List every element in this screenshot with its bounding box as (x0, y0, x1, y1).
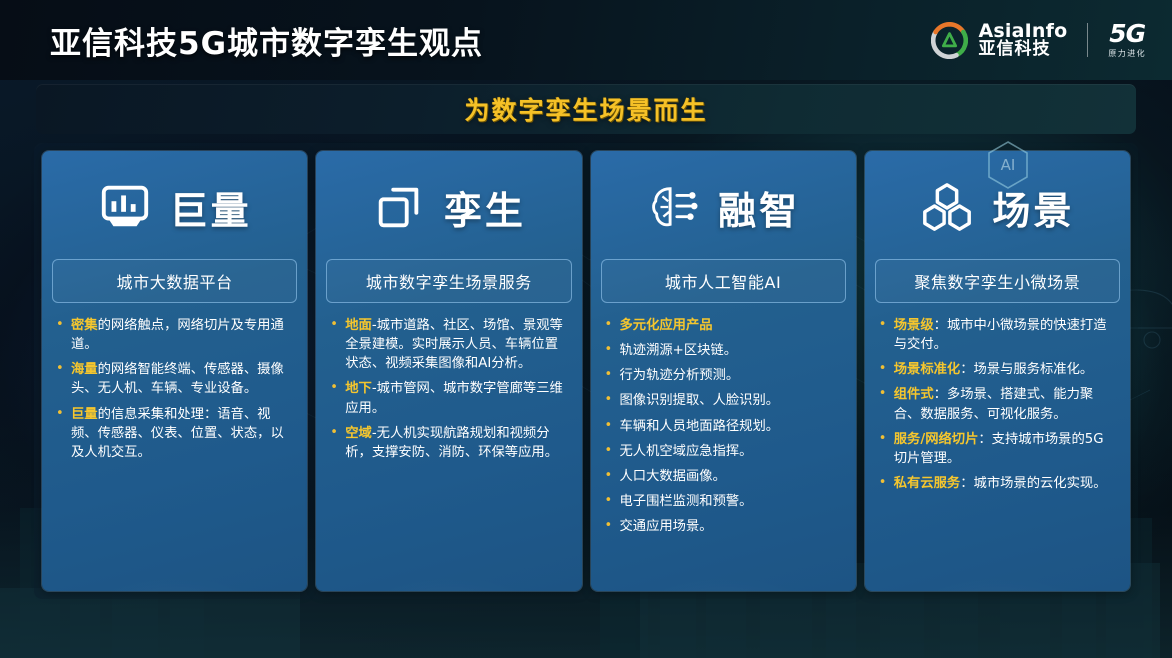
card-bullet-list: •多元化应用产品•轨迹溯源+区块链。•行为轨迹分析预测。•图像识别提取、人脸识别… (601, 316, 846, 581)
bullet-keyword: 巨量 (71, 407, 98, 422)
bullet-dot-icon: • (879, 316, 888, 354)
bullet-dot-icon: • (879, 385, 888, 423)
card-subtitle: 聚焦数字孪生小微场景 (914, 273, 1080, 292)
bullet-keyword: 空域 (345, 426, 372, 441)
bullet-dot-icon: • (56, 360, 65, 398)
brain-circuit-ai-icon (646, 180, 700, 234)
bullet-dot-icon: • (605, 341, 614, 360)
bar-chart-database-icon (98, 180, 152, 234)
fiveg-sublabel: 原力进化 (1108, 48, 1146, 59)
bullet-keyword: 地下 (345, 381, 372, 396)
ai-hexagon-badge-icon: AI (986, 140, 1030, 190)
page-title: 亚信科技5G城市数字孪生观点 (50, 18, 483, 63)
bullet-keyword: 密集 (71, 318, 98, 333)
card-subtitle-box: 城市大数据平台 (52, 259, 297, 303)
card-changjing[interactable]: 场景 聚焦数字孪生小微场景 •场景级：城市中小微场景的快速打造与交付。•场景标准… (865, 151, 1130, 591)
card-bullet-list: •地面-城市道路、社区、场馆、景观等全景建模。实时展示人员、车辆位置状态、视频采… (326, 316, 571, 581)
brand-name-cn: 亚信科技 (979, 41, 1068, 58)
bullet-item: •人口大数据画像。 (605, 467, 840, 486)
logo-divider (1087, 23, 1088, 57)
bullet-dot-icon: • (879, 360, 888, 379)
bullet-item: •私有云服务：城市场景的云化实现。 (879, 474, 1114, 493)
bullet-dot-icon: • (605, 442, 614, 461)
card-title: 巨量 (170, 180, 252, 235)
card-subtitle: 城市人工智能AI (665, 273, 781, 292)
card-juliang[interactable]: 巨量 城市大数据平台 •密集的网络触点，网络切片及专用通道。•海量的网络智能终端… (42, 151, 307, 591)
bullet-item: •无人机空域应急指挥。 (605, 442, 840, 461)
bullet-keyword: 场景级 (894, 318, 934, 333)
bullet-text: 地下-城市管网、城市数字管廊等三维应用。 (345, 379, 565, 417)
bullet-text: 海量的网络智能终端、传感器、摄像头、无人机、车辆、专业设备。 (71, 360, 291, 398)
bullet-text: 组件式：多场景、搭建式、能力聚合、数据服务、可视化服务。 (894, 385, 1114, 423)
brand-logo-text: AsiaInfo 亚信科技 (979, 22, 1068, 59)
slide-header: 亚信科技5G城市数字孪生观点 AsiaInfo 亚信科技 5G 原力进化 (0, 0, 1172, 80)
section-banner-text: 为数字孪生场景而生 (464, 91, 707, 127)
bullet-text: 场景级：城市中小微场景的快速打造与交付。 (894, 316, 1114, 354)
bullet-text: 图像识别提取、人脸识别。 (620, 391, 780, 410)
brand-logo: AsiaInfo 亚信科技 5G 原力进化 (931, 21, 1146, 59)
bullet-text: 地面-城市道路、社区、场馆、景观等全景建模。实时展示人员、车辆位置状态、视频采集… (345, 316, 565, 373)
bullet-dot-icon: • (56, 405, 65, 462)
card-subtitle-box: 聚焦数字孪生小微场景 (875, 259, 1120, 303)
bullet-dot-icon: • (605, 366, 614, 385)
bullet-item: •巨量的信息采集和处理：语音、视频、传感器、仪表、位置、状态，以及人机交互。 (56, 405, 291, 462)
bullet-dot-icon: • (605, 467, 614, 486)
bullet-dot-icon: • (605, 316, 614, 335)
cards-panel: 巨量 城市大数据平台 •密集的网络触点，网络切片及专用通道。•海量的网络智能终端… (34, 143, 1138, 599)
bullet-keyword: 多元化应用产品 (620, 318, 713, 333)
bullet-dot-icon: • (605, 492, 614, 511)
card-bullet-list: •密集的网络触点，网络切片及专用通道。•海量的网络智能终端、传感器、摄像头、无人… (52, 316, 297, 581)
bullet-item: •场景级：城市中小微场景的快速打造与交付。 (879, 316, 1114, 354)
bullet-text: 服务/网络切片：支持城市场景的5G切片管理。 (894, 430, 1114, 468)
bullet-keyword: 私有云服务 (894, 476, 960, 491)
card-luansheng[interactable]: 孪生 城市数字孪生场景服务 •地面-城市道路、社区、场馆、景观等全景建模。实时展… (316, 151, 581, 591)
bullet-dot-icon: • (330, 424, 339, 462)
bullet-dot-icon: • (330, 316, 339, 373)
bullet-text: 空域-无人机实现航路规划和视频分析，支撑安防、消防、环保等应用。 (345, 424, 565, 462)
bullet-text: 密集的网络触点，网络切片及专用通道。 (71, 316, 291, 354)
twin-squares-icon (372, 180, 426, 234)
card-header: 融智 (646, 169, 800, 245)
card-header: 巨量 (98, 169, 252, 245)
bullet-item: •行为轨迹分析预测。 (605, 366, 840, 385)
bullet-item: •轨迹溯源+区块链。 (605, 341, 840, 360)
card-rongzhi[interactable]: 融智 城市人工智能AI •多元化应用产品•轨迹溯源+区块链。•行为轨迹分析预测。… (591, 151, 856, 591)
bullet-item: •交通应用场景。 (605, 517, 840, 536)
bullet-keyword: 场景标准化 (894, 362, 960, 377)
bullet-item: •地下-城市管网、城市数字管廊等三维应用。 (330, 379, 565, 417)
card-title: 融智 (718, 180, 800, 235)
bullet-item: •车辆和人员地面路径规划。 (605, 417, 840, 436)
bullet-text: 交通应用场景。 (620, 517, 713, 536)
bullet-item: •海量的网络智能终端、传感器、摄像头、无人机、车辆、专业设备。 (56, 360, 291, 398)
bullet-dot-icon: • (56, 316, 65, 354)
bullet-dot-icon: • (605, 517, 614, 536)
bullet-text: 多元化应用产品 (620, 316, 713, 335)
bullet-text: 行为轨迹分析预测。 (620, 366, 740, 385)
card-subtitle: 城市大数据平台 (117, 273, 233, 292)
fiveg-label: 5G (1109, 21, 1145, 46)
card-subtitle: 城市数字孪生场景服务 (366, 273, 532, 292)
ai-badge-text: AI (1001, 156, 1016, 174)
bullet-dot-icon: • (330, 379, 339, 417)
bullet-text: 场景标准化：场景与服务标准化。 (894, 360, 1093, 379)
bullet-item: •密集的网络触点，网络切片及专用通道。 (56, 316, 291, 354)
bullet-keyword: 组件式 (894, 387, 934, 402)
bullet-item: •服务/网络切片：支持城市场景的5G切片管理。 (879, 430, 1114, 468)
cards-container: 巨量 城市大数据平台 •密集的网络触点，网络切片及专用通道。•海量的网络智能终端… (34, 143, 1138, 599)
card-subtitle-box: 城市人工智能AI (601, 259, 846, 303)
bullet-dot-icon: • (879, 430, 888, 468)
bullet-item: •组件式：多场景、搭建式、能力聚合、数据服务、可视化服务。 (879, 385, 1114, 423)
bullet-text: 轨迹溯源+区块链。 (620, 341, 738, 360)
bullet-text: 无人机空域应急指挥。 (620, 442, 753, 461)
bullet-text: 电子围栏监测和预警。 (620, 492, 753, 511)
bullet-keyword: 地面 (345, 318, 372, 333)
bullet-item: •地面-城市道路、社区、场馆、景观等全景建模。实时展示人员、车辆位置状态、视频采… (330, 316, 565, 373)
card-bullet-list: •场景级：城市中小微场景的快速打造与交付。•场景标准化：场景与服务标准化。•组件… (875, 316, 1120, 581)
bullet-text: 车辆和人员地面路径规划。 (620, 417, 780, 436)
section-banner: 为数字孪生场景而生 (36, 84, 1136, 134)
bullet-item: •图像识别提取、人脸识别。 (605, 391, 840, 410)
bullet-item: •多元化应用产品 (605, 316, 840, 335)
asiainfo-circle-logo-icon (931, 22, 968, 59)
bullet-dot-icon: • (605, 417, 614, 436)
bullet-text: 巨量的信息采集和处理：语音、视频、传感器、仪表、位置、状态，以及人机交互。 (71, 405, 291, 462)
bullet-keyword: 海量 (71, 362, 98, 377)
hexagon-cluster-icon (920, 180, 974, 234)
card-subtitle-box: 城市数字孪生场景服务 (326, 259, 571, 303)
bullet-dot-icon: • (879, 474, 888, 493)
slide-root: 亚信科技5G城市数字孪生观点 AsiaInfo 亚信科技 5G 原力进化 为数字… (0, 0, 1172, 658)
bullet-keyword: 服务/网络切片 (894, 432, 979, 447)
bullet-item: •电子围栏监测和预警。 (605, 492, 840, 511)
fiveg-mark: 5G 原力进化 (1108, 21, 1146, 59)
bullet-dot-icon: • (605, 391, 614, 410)
bullet-text: 人口大数据画像。 (620, 467, 726, 486)
bullet-item: •场景标准化：场景与服务标准化。 (879, 360, 1114, 379)
bullet-text: 私有云服务：城市场景的云化实现。 (894, 474, 1107, 493)
bullet-item: •空域-无人机实现航路规划和视频分析，支撑安防、消防、环保等应用。 (330, 424, 565, 462)
card-header: 孪生 (372, 169, 526, 245)
card-title: 孪生 (444, 180, 526, 235)
